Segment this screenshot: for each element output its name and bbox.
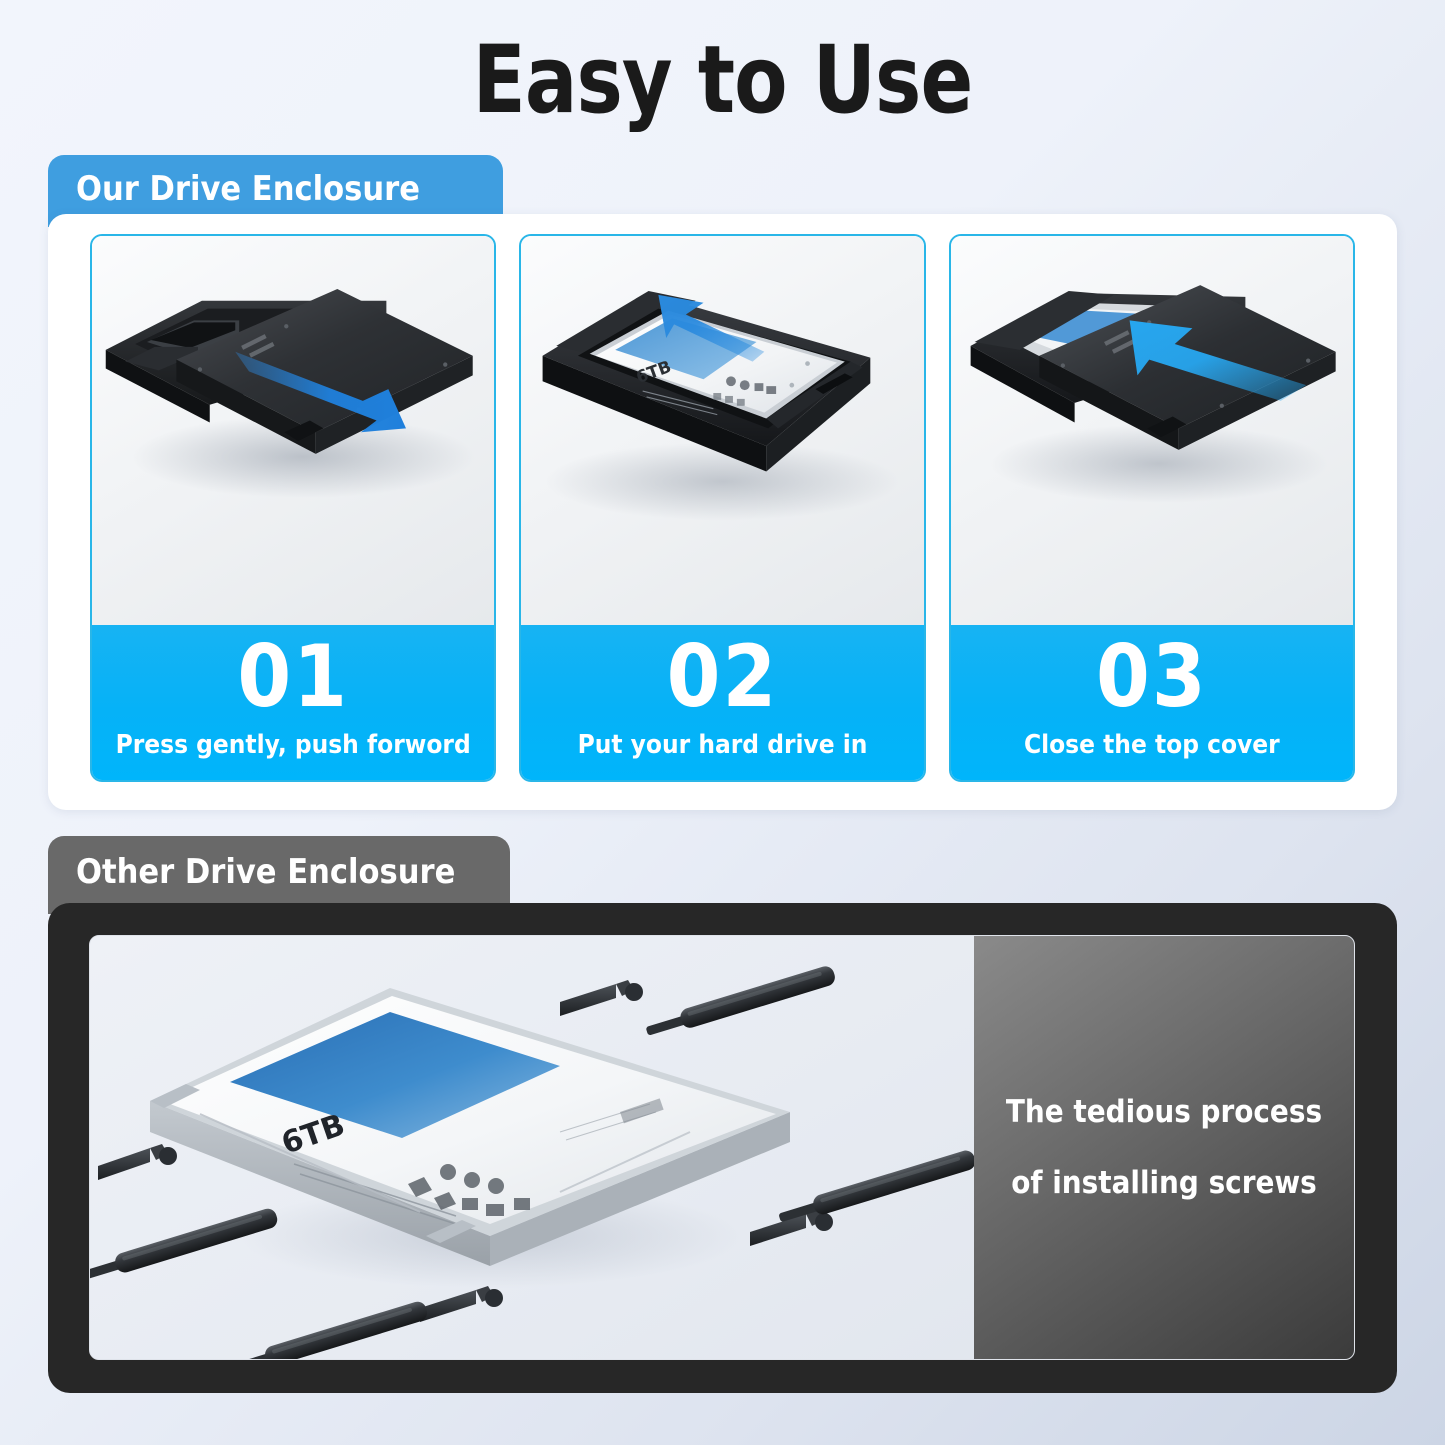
drive-insert-illustration: 6TB	[521, 236, 923, 618]
step-caption-01: 01 Press gently, push forword	[92, 625, 494, 780]
step-panel-01: 01 Press gently, push forword	[90, 234, 496, 782]
steps-row: 01 Press gently, push forword	[90, 234, 1355, 782]
step-photo-03	[951, 236, 1353, 625]
infographic-root: Easy to Use Our Drive Enclosure	[0, 0, 1445, 1445]
step-caption-text: Put your hard drive in	[578, 730, 868, 760]
other-enclosure-card: 6TB	[48, 903, 1397, 1393]
step-photo-01	[92, 236, 494, 625]
enclosure-open-illustration	[92, 236, 494, 618]
step-number: 03	[1096, 637, 1208, 719]
step-photo-02: 6TB	[521, 236, 923, 625]
step-caption-03: 03 Close the top cover	[951, 625, 1353, 780]
screwdriver-top	[644, 964, 837, 1040]
tedious-note-line-1: The tedious process	[1006, 1097, 1322, 1128]
our-enclosure-tab-label: Our Drive Enclosure	[76, 169, 420, 209]
other-enclosure-tab-label: Other Drive Enclosure	[76, 852, 455, 892]
step-number: 01	[237, 637, 349, 719]
step-panel-02: 6TB	[519, 234, 925, 782]
page-title: Easy to Use	[58, 26, 1387, 135]
tedious-note-line-2: of installing screws	[1011, 1168, 1317, 1199]
step-panel-03: 03 Close the top cover	[949, 234, 1355, 782]
screws-photo: 6TB	[90, 936, 974, 1359]
screw-bottom-left	[420, 1286, 503, 1322]
our-enclosure-card: 01 Press gently, push forword	[48, 214, 1397, 810]
enclosure-close-illustration	[951, 236, 1353, 618]
screwdriver-right	[777, 1148, 974, 1227]
step-caption-02: 02 Put your hard drive in	[521, 625, 923, 780]
screwdriver-bottom	[228, 1299, 429, 1359]
screw-top-left	[98, 1144, 177, 1180]
screw-top-right	[560, 980, 643, 1016]
screws-and-drivers-illustration: 6TB	[90, 936, 974, 1359]
step-caption-text: Press gently, push forword	[116, 730, 471, 760]
other-enclosure-inner: 6TB	[89, 935, 1355, 1360]
step-number: 02	[667, 637, 779, 719]
tedious-note: The tedious process of installing screws	[974, 936, 1354, 1359]
step-caption-text: Close the top cover	[1024, 730, 1280, 760]
